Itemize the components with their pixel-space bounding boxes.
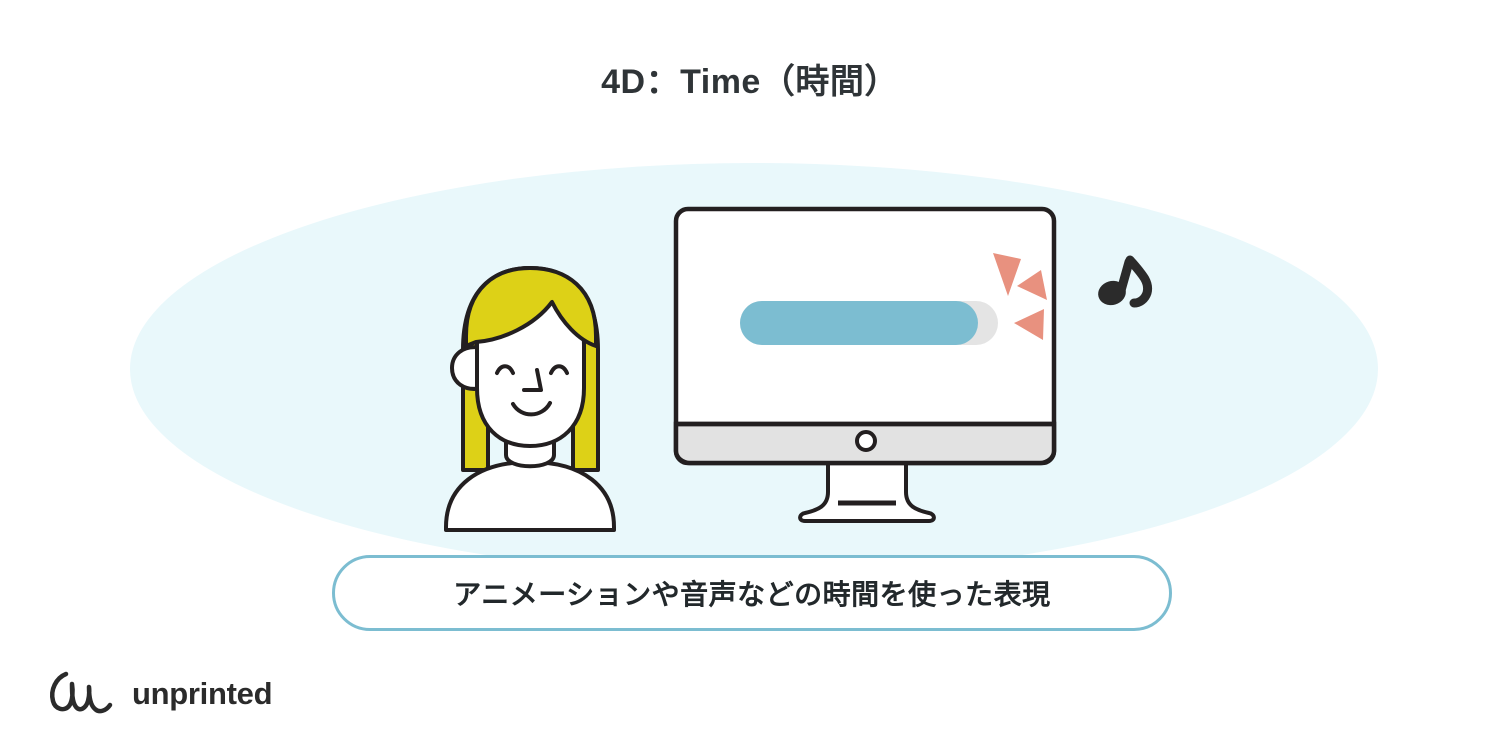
unprinted-script-mark-icon <box>46 668 118 718</box>
progress-fill <box>740 301 978 345</box>
shoulders <box>446 462 614 530</box>
smiling-woman-avatar <box>446 268 614 530</box>
loading-progress-bar <box>740 301 998 345</box>
monitor-stand <box>800 462 934 521</box>
caption-text: アニメーションや音声などの時間を使った表現 <box>453 573 1050 613</box>
monitor-power-button[interactable] <box>857 432 875 450</box>
illustration-group <box>0 0 1500 750</box>
logo-wordmark: unprinted <box>132 678 272 709</box>
desktop-monitor <box>676 209 1054 521</box>
caption-pill: アニメーションや音声などの時間を使った表現 <box>332 555 1172 631</box>
eighth-note-icon <box>1095 252 1153 308</box>
note-flag <box>1130 260 1148 303</box>
slide-canvas: 4D：Time（時間） <box>0 0 1500 750</box>
brand-logo[interactable]: unprinted <box>46 668 272 718</box>
